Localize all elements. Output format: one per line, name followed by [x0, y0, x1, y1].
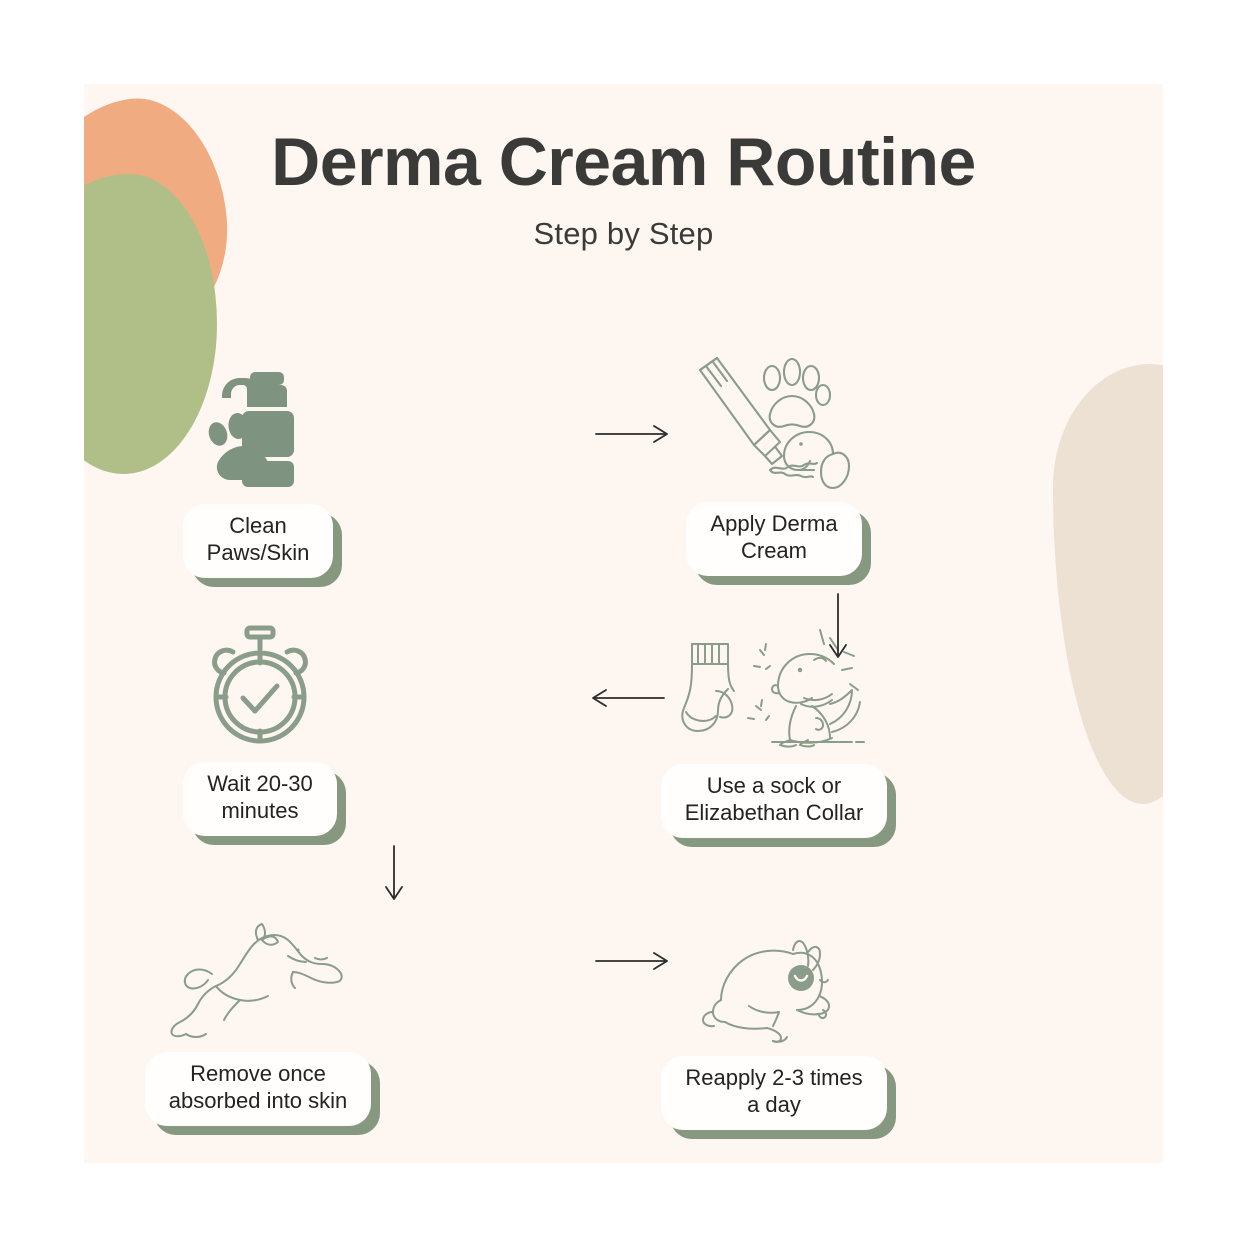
infographic-canvas: Derma Cream Routine Step by Step: [0, 0, 1247, 1247]
resting-dog-icon: [689, 906, 859, 1046]
step-card-apply-cream[interactable]: Apply Derma Cream: [624, 352, 924, 576]
step-label-apply-cream: Apply Derma Cream: [686, 502, 861, 576]
step-label-wrap: Remove once absorbed into skin: [145, 1052, 372, 1126]
step-card-sock-collar[interactable]: Use a sock or Elizabethan Collar: [624, 614, 924, 838]
steps-grid: Clean Paws/Skin: [84, 84, 1163, 1163]
step-label-wrap: Apply Derma Cream: [686, 502, 861, 576]
stopwatch-check-icon: [200, 612, 320, 752]
arrow-step3-to-step4-icon: [586, 686, 666, 710]
step-label-remove: Remove once absorbed into skin: [145, 1052, 372, 1126]
step-label-wrap: Reapply 2-3 times a day: [661, 1056, 886, 1130]
step-label-reapply: Reapply 2-3 times a day: [661, 1056, 886, 1130]
step-card-reapply[interactable]: Reapply 2-3 times a day: [624, 906, 924, 1130]
arrow-step4-to-step5-icon: [382, 844, 406, 906]
step-card-clean-paws[interactable]: Clean Paws/Skin: [108, 354, 408, 578]
soap-dispenser-paw-icon: [200, 354, 316, 494]
step-card-remove[interactable]: Remove once absorbed into skin: [108, 902, 408, 1126]
jumping-dog-icon: [158, 902, 358, 1042]
arrow-step5-to-step6-icon: [594, 949, 674, 973]
cream-tube-paw-dog-icon: [684, 352, 864, 492]
step-label-sock-collar: Use a sock or Elizabethan Collar: [661, 764, 888, 838]
step-label-wait: Wait 20-30 minutes: [183, 762, 337, 836]
step-label-wrap: Use a sock or Elizabethan Collar: [661, 764, 888, 838]
step-label-clean-paws: Clean Paws/Skin: [183, 504, 334, 578]
arrow-step1-to-step2-icon: [594, 422, 674, 446]
step-label-wrap: Wait 20-30 minutes: [183, 762, 337, 836]
step-card-wait[interactable]: Wait 20-30 minutes: [110, 612, 410, 836]
arrow-step2-to-step3-icon: [826, 592, 850, 664]
content-panel: Derma Cream Routine Step by Step: [84, 84, 1163, 1163]
step-label-wrap: Clean Paws/Skin: [183, 504, 334, 578]
